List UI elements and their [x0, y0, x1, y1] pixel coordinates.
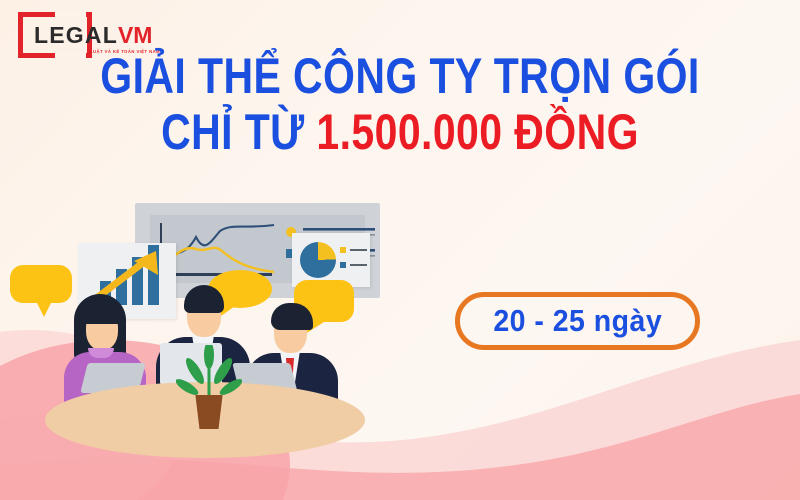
board-line-chart [158, 219, 278, 277]
duration-badge[interactable]: 20 - 25 ngày [455, 292, 700, 350]
logo-legal-text: LEGAL [34, 22, 118, 48]
woman-hair-front [80, 300, 124, 324]
duration-badge-label: 20 - 25 ngày [493, 303, 662, 339]
headline-prefix: CHỈ TỪ [161, 104, 316, 160]
headline-block: GIẢI THỂ CÔNG TY TRỌN GÓI CHỈ TỪ 1.500.0… [0, 52, 800, 157]
headline-price: 1.500.000 ĐỒNG [316, 104, 639, 160]
man-right-hair [271, 303, 313, 330]
headline-line-1: GIẢI THỂ CÔNG TY TRỌN GÓI [72, 52, 728, 102]
logo-wordmark: LEGALVM [34, 24, 152, 47]
logo-vm-text: VM [118, 22, 153, 48]
share-pie-chart-card [292, 233, 370, 287]
poster-canvas: LEGALVM LUẬT VÀ KẾ TOÁN VIỆT NAM GIẢI TH… [0, 0, 800, 500]
business-meeting-illustration [40, 185, 430, 485]
pie-chart-legend [340, 246, 368, 276]
plant-leaves-icon [176, 345, 242, 401]
man-center-hair [184, 285, 224, 313]
headline-line-2: CHỈ TỪ 1.500.000 ĐỒNG [72, 108, 728, 158]
pie-chart-graphic [300, 242, 336, 278]
